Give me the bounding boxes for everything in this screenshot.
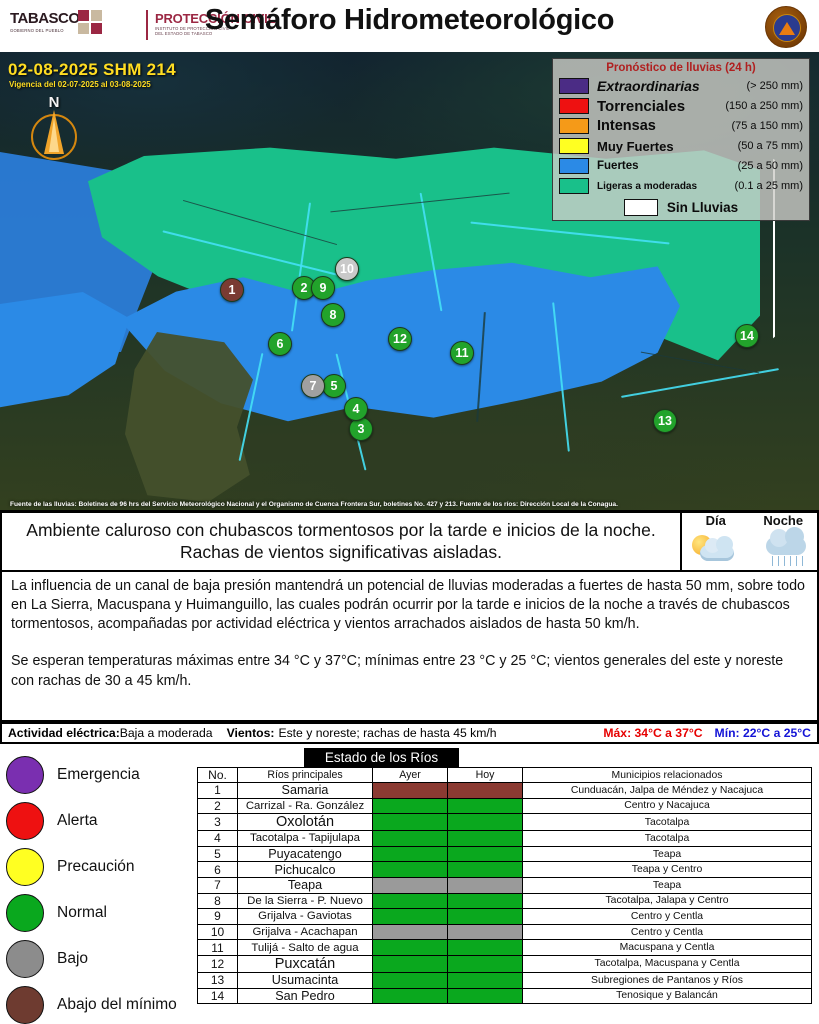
rainfall-legend-swatch-sin-lluvias <box>624 199 658 216</box>
status-legend-label: Precaución <box>44 858 135 875</box>
map-source-note: Fuente de las lluvias: Boletines de 96 h… <box>0 501 819 508</box>
river-status-hoy <box>448 955 523 972</box>
rivers-table-row[interactable]: 1SamariaCunduacán, Jalpa de Méndez y Nac… <box>198 783 812 799</box>
rainfall-legend-range: (75 a 150 mm) <box>731 120 803 132</box>
rivers-table-row[interactable]: 10Grijalva - AcachapanCentro y Centla <box>198 924 812 940</box>
rivers-table-row[interactable]: 2Carrizal - Ra. GonzálezCentro y Nacajuc… <box>198 798 812 814</box>
river-status-hoy <box>448 862 523 878</box>
river-municipalities: Centro y Centla <box>523 909 812 925</box>
status-legend-label: Emergencia <box>44 766 140 783</box>
map-marker-9[interactable]: 9 <box>311 276 335 300</box>
temp-min-badge: Mín: 22°C a 25°C <box>715 726 811 740</box>
river-municipalities: Macuspana y Centla <box>523 940 812 956</box>
river-municipalities: Tacotalpa, Jalapa y Centro <box>523 893 812 909</box>
river-number: 12 <box>198 955 238 972</box>
rainfall-legend-row: Muy Fuertes(50 a 75 mm) <box>559 136 803 156</box>
river-status-hoy <box>448 940 523 956</box>
proteccion-civil-shield-icon <box>765 6 807 48</box>
river-number: 2 <box>198 798 238 814</box>
rainfall-legend-swatch <box>559 98 589 114</box>
rivers-table-caption: Estado de los Ríos <box>304 748 459 767</box>
map-marker-14[interactable]: 14 <box>735 324 759 348</box>
river-municipalities: Subregiones de Pantanos y Ríos <box>523 972 812 988</box>
rivers-column-header: Ayer <box>373 768 448 783</box>
river-status-ayer <box>373 988 448 1004</box>
rainfall-forecast-map[interactable]: 02-08-2025 SHM 214 Vigencia del 02-07-20… <box>0 52 819 510</box>
rainfall-legend-row: Ligeras a moderadas(0.1 a 25 mm) <box>559 176 803 196</box>
river-status-hoy <box>448 798 523 814</box>
forecast-paragraph-1: La influencia de un canal de baja presió… <box>11 577 808 634</box>
river-status-ayer <box>373 877 448 893</box>
map-marker-8[interactable]: 8 <box>321 303 345 327</box>
river-status-ayer <box>373 940 448 956</box>
river-status-hoy <box>448 893 523 909</box>
status-legend-label: Abajo del mínimo <box>44 996 177 1013</box>
river-status-ayer <box>373 909 448 925</box>
river-status-ayer <box>373 831 448 847</box>
river-status-ayer <box>373 798 448 814</box>
rainfall-legend-range: (150 a 250 mm) <box>725 100 803 112</box>
river-status-ayer <box>373 972 448 988</box>
river-status-hoy <box>448 783 523 799</box>
rainfall-legend-no-rain-row: Sin Lluvias <box>559 199 803 216</box>
river-number: 9 <box>198 909 238 925</box>
river-name: Puxcatán <box>238 955 373 972</box>
rivers-column-header: Municipios relacionados <box>523 768 812 783</box>
status-legend-dot <box>6 802 44 840</box>
river-name: Grijalva - Acachapan <box>238 924 373 940</box>
forecast-detail-block: La influencia de un canal de baja presió… <box>0 572 819 722</box>
rivers-table-row[interactable]: 6PichucalcoTeapa y Centro <box>198 862 812 878</box>
rainfall-legend-label: Ligeras a moderadas <box>589 181 735 192</box>
map-marker-13[interactable]: 13 <box>653 409 677 433</box>
river-status-legend: EmergenciaAlertaPrecauciónNormalBajoAbaj… <box>6 752 191 1024</box>
rivers-table-row[interactable]: 4Tacotalpa - TapijulapaTacotalpa <box>198 831 812 847</box>
rainfall-legend-swatch <box>559 138 589 154</box>
rivers-table-row[interactable]: 12PuxcatánTacotalpa, Macuspana y Centla <box>198 955 812 972</box>
river-status-hoy <box>448 988 523 1004</box>
river-name: Carrizal - Ra. González <box>238 798 373 814</box>
river-municipalities: Teapa <box>523 846 812 862</box>
status-legend-label: Alerta <box>44 812 98 829</box>
rainfall-legend-title: Pronóstico de lluvias (24 h) <box>559 62 803 74</box>
rivers-table-row[interactable]: 9Grijalva - GaviotasCentro y Centla <box>198 909 812 925</box>
river-number: 4 <box>198 831 238 847</box>
map-marker-4[interactable]: 4 <box>344 397 368 421</box>
rainfall-legend-label: Intensas <box>589 118 731 134</box>
day-label: Día <box>682 513 750 531</box>
river-name: Tulijá - Salto de agua <box>238 940 373 956</box>
rainfall-legend-row: Torrenciales(150 a 250 mm) <box>559 96 803 116</box>
rivers-table-row[interactable]: 7TeapaTeapa <box>198 877 812 893</box>
rivers-column-header: Hoy <box>448 768 523 783</box>
river-status-hoy <box>448 831 523 847</box>
rainfall-legend-swatch <box>559 158 589 174</box>
rivers-table-body: 1SamariaCunduacán, Jalpa de Méndez y Nac… <box>198 783 812 1004</box>
rainfall-legend-label: Fuertes <box>589 160 738 172</box>
river-name: Usumacinta <box>238 972 373 988</box>
status-legend-dot <box>6 986 44 1024</box>
day-night-panel: Día Noche <box>682 513 819 570</box>
rainfall-legend-range: (25 a 50 mm) <box>738 160 803 172</box>
rivers-table: No.Ríos principalesAyerHoyMunicipios rel… <box>197 767 812 1004</box>
page-title: Semáforo Hidrometeorológico <box>0 4 819 37</box>
rivers-table-row[interactable]: 14San PedroTenosique y Balancán <box>198 988 812 1004</box>
status-legend-dot <box>6 894 44 932</box>
rainfall-legend-swatch <box>559 118 589 134</box>
river-municipalities: Cunduacán, Jalpa de Méndez y Nacajuca <box>523 783 812 799</box>
river-name: Tacotalpa - Tapijulapa <box>238 831 373 847</box>
status-legend-item: Normal <box>6 890 191 936</box>
rainfall-legend-label: Torrenciales <box>589 98 725 115</box>
status-legend-item: Alerta <box>6 798 191 844</box>
map-marker-11[interactable]: 11 <box>450 341 474 365</box>
rainfall-legend-swatch <box>559 178 589 194</box>
river-status-ayer <box>373 924 448 940</box>
river-status-hoy <box>448 909 523 925</box>
river-name: Pichucalco <box>238 862 373 878</box>
rainfall-legend-label: Muy Fuertes <box>589 139 738 154</box>
rivers-table-row[interactable]: 11Tulijá - Salto de aguaMacuspana y Cent… <box>198 940 812 956</box>
compass-north-label: N <box>22 94 86 111</box>
rainfall-legend-rows: Extraordinarias(> 250 mm)Torrenciales(15… <box>559 76 803 196</box>
river-status-ayer <box>373 814 448 831</box>
semaforo-hidrometeorologico-page: TABASCO GOBIERNO DEL PUEBLO PROTECCIÓN C… <box>0 0 819 1024</box>
river-status-ayer <box>373 862 448 878</box>
rivers-column-header: Ríos principales <box>238 768 373 783</box>
river-municipalities: Teapa y Centro <box>523 862 812 878</box>
river-name: De la Sierra - P. Nuevo <box>238 893 373 909</box>
river-status-ayer <box>373 783 448 799</box>
page-header: TABASCO GOBIERNO DEL PUEBLO PROTECCIÓN C… <box>0 0 819 52</box>
river-name: Puyacatengo <box>238 846 373 862</box>
sun-behind-cloud-icon <box>682 531 750 570</box>
river-municipalities: Centro y Nacajuca <box>523 798 812 814</box>
river-number: 5 <box>198 846 238 862</box>
rainfall-legend-row: Extraordinarias(> 250 mm) <box>559 76 803 96</box>
status-legend-item: Bajo <box>6 936 191 982</box>
river-name: Teapa <box>238 877 373 893</box>
river-number: 13 <box>198 972 238 988</box>
river-number: 7 <box>198 877 238 893</box>
river-name: Grijalva - Gaviotas <box>238 909 373 925</box>
river-status-ayer <box>373 846 448 862</box>
temp-max-badge: Máx: 34°C a 37°C <box>603 726 702 740</box>
electric-activity-value: Baja a moderada <box>120 726 213 740</box>
status-legend-label: Normal <box>44 904 107 921</box>
rainfall-legend-range: (> 250 mm) <box>746 80 803 92</box>
river-status-hoy <box>448 814 523 831</box>
river-name: Oxolotán <box>238 814 373 831</box>
river-name: Samaria <box>238 783 373 799</box>
river-status-hoy <box>448 846 523 862</box>
rivers-table-row[interactable]: 13UsumacintaSubregiones de Pantanos y Rí… <box>198 972 812 988</box>
rainfall-legend-row: Intensas(75 a 150 mm) <box>559 116 803 136</box>
river-status-ayer <box>373 893 448 909</box>
rivers-table-header-row: No.Ríos principalesAyerHoyMunicipios rel… <box>198 768 812 783</box>
rivers-status-section: Estado de los Ríos No.Ríos principalesAy… <box>197 748 812 1004</box>
wind-label: Vientos: <box>227 726 275 740</box>
rainfall-legend-swatch <box>559 78 589 94</box>
river-status-ayer <box>373 955 448 972</box>
map-date-code: 02-08-2025 SHM 214 <box>8 60 176 80</box>
river-number: 1 <box>198 783 238 799</box>
status-legend-item: Emergencia <box>6 752 191 798</box>
rainfall-legend: Pronóstico de lluvias (24 h) Extraordina… <box>552 58 810 221</box>
rivers-table-row[interactable]: 3OxolotánTacotalpa <box>198 814 812 831</box>
river-status-hoy <box>448 877 523 893</box>
status-legend-dot <box>6 848 44 886</box>
rainfall-legend-label-sin-lluvias: Sin Lluvias <box>658 200 738 215</box>
river-municipalities: Tacotalpa, Macuspana y Centla <box>523 955 812 972</box>
river-status-hoy <box>448 972 523 988</box>
river-number: 3 <box>198 814 238 831</box>
night-label: Noche <box>750 513 818 531</box>
rainfall-legend-row: Fuertes(25 a 50 mm) <box>559 156 803 176</box>
river-number: 10 <box>198 924 238 940</box>
river-number: 11 <box>198 940 238 956</box>
rivers-table-row[interactable]: 5PuyacatengoTeapa <box>198 846 812 862</box>
river-municipalities: Tacotalpa <box>523 831 812 847</box>
status-legend-dot <box>6 940 44 978</box>
rivers-column-header: No. <box>198 768 238 783</box>
compass-rose-icon: N <box>22 94 86 166</box>
river-status-hoy <box>448 924 523 940</box>
river-number: 14 <box>198 988 238 1004</box>
map-marker-7[interactable]: 7 <box>301 374 325 398</box>
rainfall-legend-range: (0.1 a 25 mm) <box>735 180 803 192</box>
river-number: 6 <box>198 862 238 878</box>
map-marker-1[interactable]: 1 <box>220 278 244 302</box>
rainfall-legend-range: (50 a 75 mm) <box>738 140 803 152</box>
map-marker-12[interactable]: 12 <box>388 327 412 351</box>
status-legend-item: Abajo del mínimo <box>6 982 191 1024</box>
wind-value: Este y noreste; rachas de hasta 45 km/h <box>274 726 496 740</box>
summary-block: Ambiente caluroso con chubascos tormento… <box>0 510 819 572</box>
status-legend-item: Precaución <box>6 844 191 890</box>
status-legend-label: Bajo <box>44 950 88 967</box>
rain-cloud-icon <box>750 531 818 570</box>
forecast-paragraph-2: Se esperan temperaturas máximas entre 34… <box>11 652 808 690</box>
map-vigencia-text: Vigencia del 02-07-2025 al 03-08-2025 <box>9 80 151 89</box>
rainfall-legend-label: Extraordinarias <box>589 78 746 94</box>
river-municipalities: Teapa <box>523 877 812 893</box>
map-marker-6[interactable]: 6 <box>268 332 292 356</box>
summary-headline: Ambiente caluroso con chubascos tormento… <box>0 513 682 570</box>
river-name: San Pedro <box>238 988 373 1004</box>
river-number: 8 <box>198 893 238 909</box>
map-marker-10[interactable]: 10 <box>335 257 359 281</box>
status-legend-dot <box>6 756 44 794</box>
river-municipalities: Centro y Centla <box>523 924 812 940</box>
electric-activity-label: Actividad eléctrica: <box>8 726 120 740</box>
conditions-status-bar: Actividad eléctrica: Baja a moderada Vie… <box>0 722 819 744</box>
river-municipalities: Tenosique y Balancán <box>523 988 812 1004</box>
rivers-table-row[interactable]: 8De la Sierra - P. NuevoTacotalpa, Jalap… <box>198 893 812 909</box>
map-marker-5[interactable]: 5 <box>322 374 346 398</box>
river-municipalities: Tacotalpa <box>523 814 812 831</box>
